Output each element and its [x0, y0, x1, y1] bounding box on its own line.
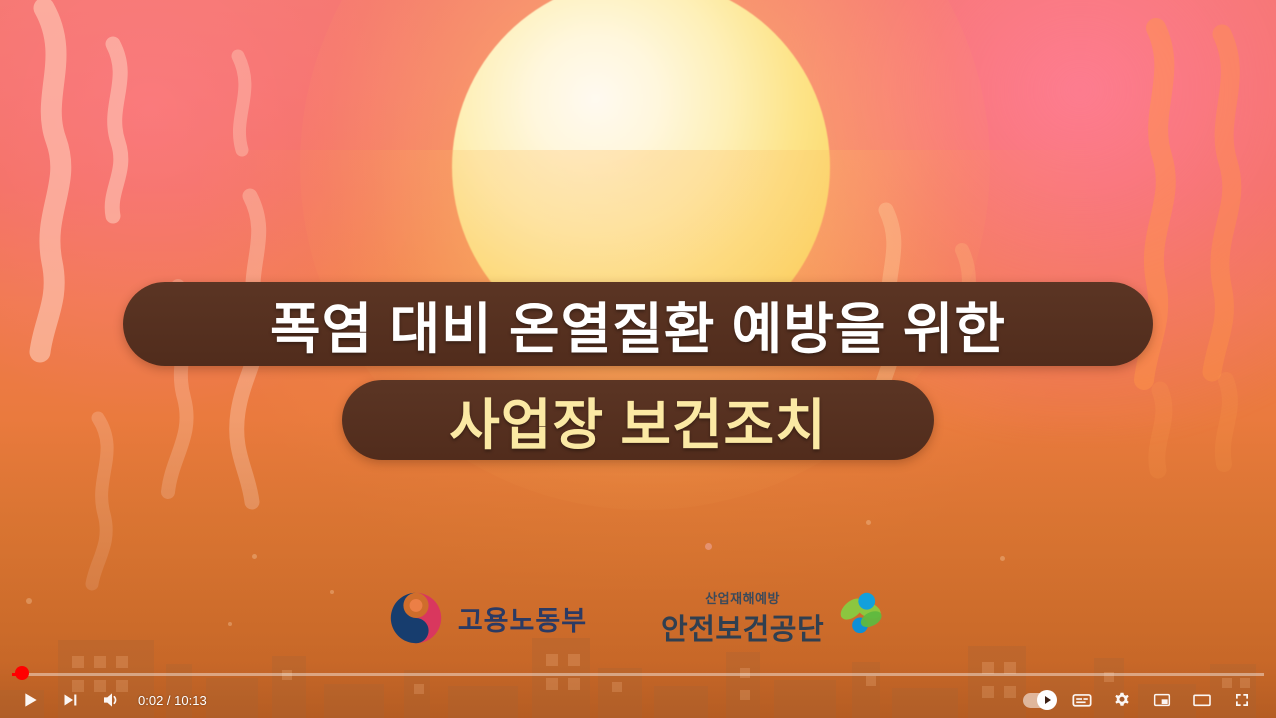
- theater-mode-icon: [1190, 688, 1214, 712]
- settings-button[interactable]: [1102, 682, 1142, 718]
- kosha-pinwheel-icon: [832, 590, 888, 646]
- agency-subtitle: 산업재해예방: [705, 588, 780, 607]
- dust-particle: [705, 543, 712, 550]
- ministry-name: 고용노동부: [458, 599, 587, 638]
- gear-icon: [1110, 688, 1134, 712]
- next-track-icon: [59, 689, 81, 711]
- progress-bar[interactable]: [12, 672, 1264, 677]
- autoplay-knob: [1037, 690, 1057, 710]
- title-pill-line2: 사업장 보건조치: [342, 380, 934, 460]
- logo-row: 고용노동부 산업재해예방 안전보건공단: [0, 588, 1276, 648]
- volume-button[interactable]: [90, 682, 130, 718]
- subtitles-cc-icon: [1069, 687, 1095, 713]
- controls-left-group: 0:02 / 10:13: [0, 682, 217, 718]
- miniplayer-button[interactable]: [1142, 682, 1182, 718]
- dust-particle: [1000, 556, 1005, 561]
- controls-button-row: 0:02 / 10:13: [0, 682, 1276, 718]
- subtitles-button[interactable]: [1062, 682, 1102, 718]
- youtube-player[interactable]: 폭염 대비 온열질환 예방을 위한 사업장 보건조치 고용노동부: [0, 0, 1276, 718]
- autoplay-toggle-icon: [1023, 693, 1055, 708]
- progress-scrubber-handle[interactable]: [15, 666, 29, 680]
- next-video-button[interactable]: [50, 682, 90, 718]
- korea-government-taegeuk-icon: [388, 590, 444, 646]
- title-line2: 사업장 보건조치: [449, 380, 826, 460]
- dust-particle: [866, 520, 871, 525]
- agency-name: 안전보건공단: [661, 606, 824, 648]
- title-pill-line1: 폭염 대비 온열질환 예방을 위한: [123, 282, 1153, 366]
- autoplay-play-glyph: [1045, 696, 1051, 704]
- player-controls-bar[interactable]: 0:02 / 10:13: [0, 662, 1276, 718]
- theater-mode-button[interactable]: [1182, 682, 1222, 718]
- title-line1: 폭염 대비 온열질환 예방을 위한: [270, 284, 1006, 364]
- agency-logo-group: 산업재해예방 안전보건공단: [661, 588, 888, 648]
- fullscreen-button[interactable]: [1222, 682, 1262, 718]
- progress-track[interactable]: [12, 673, 1264, 676]
- ministry-logo-group: 고용노동부: [388, 590, 587, 646]
- time-display: 0:02 / 10:13: [130, 693, 217, 708]
- volume-medium-icon: [98, 688, 122, 712]
- fullscreen-icon: [1230, 688, 1254, 712]
- dust-particle: [252, 554, 257, 559]
- play-button[interactable]: [10, 682, 50, 718]
- autoplay-toggle-button[interactable]: [1016, 682, 1062, 718]
- video-frame[interactable]: 폭염 대비 온열질환 예방을 위한 사업장 보건조치 고용노동부: [0, 0, 1276, 718]
- miniplayer-icon: [1150, 688, 1174, 712]
- play-icon: [18, 688, 42, 712]
- video-title-block: 폭염 대비 온열질환 예방을 위한 사업장 보건조치: [0, 282, 1276, 460]
- controls-right-group: [1016, 682, 1276, 718]
